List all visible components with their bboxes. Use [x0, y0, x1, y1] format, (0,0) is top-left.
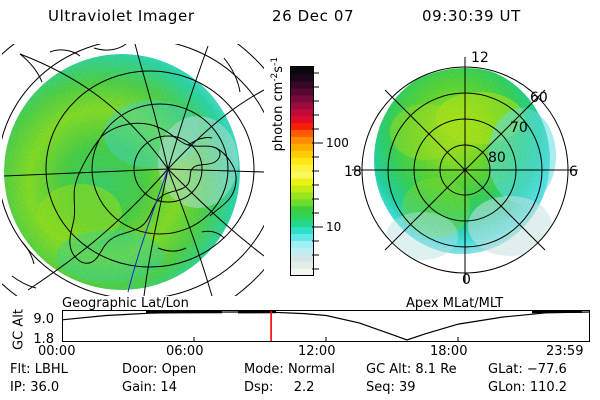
status-glon-label: GLon: [488, 380, 526, 395]
colorbar-swatches [291, 67, 313, 275]
colorbar-ticks [312, 66, 328, 276]
status-mode: Mode: Normal [244, 362, 335, 377]
status-seq-value: 39 [399, 380, 416, 395]
status-glat-label: GLat: [488, 362, 523, 377]
status-glat-value: −77.6 [527, 362, 567, 377]
timeline-xtick-2: 12:00 [298, 344, 335, 359]
status-seq: Seq: 39 [366, 380, 416, 395]
status-ip-value: 36.0 [30, 380, 59, 395]
orbit-altitude-timeline[interactable]: Geographic Lat/Lon Apex MLat/MLT GC Alt … [0, 296, 600, 358]
status-dsp-value: 2.2 [294, 380, 315, 395]
timeline-xtick-4: 23:59 [546, 344, 583, 359]
status-glon-value: 110.2 [530, 380, 567, 395]
timeline-y-axis-label: GC Alt [12, 302, 27, 358]
status-ip-label: IP: [10, 380, 26, 395]
timeline-xtick-1: 06:00 [166, 344, 203, 359]
status-flt: Flt: LBHL [10, 362, 68, 377]
mlt-label-0: 0 [462, 272, 471, 288]
page-title: Ultraviolet Imager [48, 7, 195, 25]
colorbar-axis-label: photon cm-2s-1 [270, 24, 286, 184]
status-gcalt-value: 8.1 Re [415, 362, 456, 377]
timeline-xtick-3: 18:00 [430, 344, 467, 359]
colorbar-unit-mid: s [271, 66, 286, 73]
observation-time: 09:30:39 UT [422, 7, 521, 25]
colorbar-unit-main: photon cm [271, 82, 286, 152]
status-door-label: Door: [122, 362, 157, 377]
uvi-viewer-window: Ultraviolet Imager 26 Dec 07 09:30:39 UT [0, 0, 600, 400]
status-dsp-label: Dsp: [244, 380, 273, 395]
status-gain: Gain: 14 [122, 380, 177, 395]
status-mode-value: Normal [288, 362, 335, 377]
colorbar-panel: photon cm-2s-1 [244, 48, 354, 296]
altitude-plot-area [62, 310, 590, 342]
mlt-label-6: 6 [569, 164, 578, 180]
apex-mlat-mlt-panel[interactable]: 12 6 0 18 60 70 80 [340, 40, 598, 298]
geographic-image-panel[interactable] [2, 44, 264, 296]
timeline-caption-left: Geographic Lat/Lon [62, 296, 189, 311]
status-glon: GLon: 110.2 [488, 380, 567, 395]
status-seq-label: Seq: [366, 380, 395, 395]
aurora-emission-field [4, 54, 240, 290]
status-bar: Flt: LBHL Door: Open Mode: Normal GC Alt… [0, 360, 600, 400]
status-gcalt-label: GC Alt: [366, 362, 411, 377]
status-gain-label: Gain: [122, 380, 156, 395]
status-dsp: Dsp: 2.2 [244, 380, 314, 395]
status-glat: GLat: −77.6 [488, 362, 567, 377]
status-flt-label: Flt: [10, 362, 31, 377]
mlt-label-18: 18 [344, 164, 362, 180]
geographic-projection [2, 44, 264, 296]
status-mode-label: Mode: [244, 362, 284, 377]
status-ip: IP: 36.0 [10, 380, 59, 395]
observation-date: 26 Dec 07 [272, 7, 354, 25]
status-gcalt: GC Alt: 8.1 Re [366, 362, 457, 377]
timeline-ytick-top: 9.0 [20, 312, 54, 327]
mlt-label-12: 12 [471, 50, 489, 66]
header-bar: Ultraviolet Imager 26 Dec 07 09:30:39 UT [0, 4, 600, 30]
colorbar-gradient [290, 66, 314, 276]
status-gain-value: 14 [160, 380, 177, 395]
lat-label-70: 70 [510, 120, 528, 136]
colorbar-tick-10: 10 [326, 220, 341, 234]
status-door: Door: Open [122, 362, 196, 377]
polar-mlat-mlt-plot: 12 6 0 18 60 70 80 [340, 40, 598, 298]
lat-label-60: 60 [530, 90, 548, 106]
status-flt-value: LBHL [35, 362, 68, 377]
status-door-value: Open [162, 362, 197, 377]
lat-label-80: 80 [488, 150, 506, 166]
colorbar-unit-exp1: -2 [270, 73, 280, 82]
colorbar-unit-exp2: -1 [270, 57, 280, 66]
timeline-caption-right: Apex MLat/MLT [406, 296, 503, 311]
timeline-xtick-0: 00:00 [38, 344, 75, 359]
